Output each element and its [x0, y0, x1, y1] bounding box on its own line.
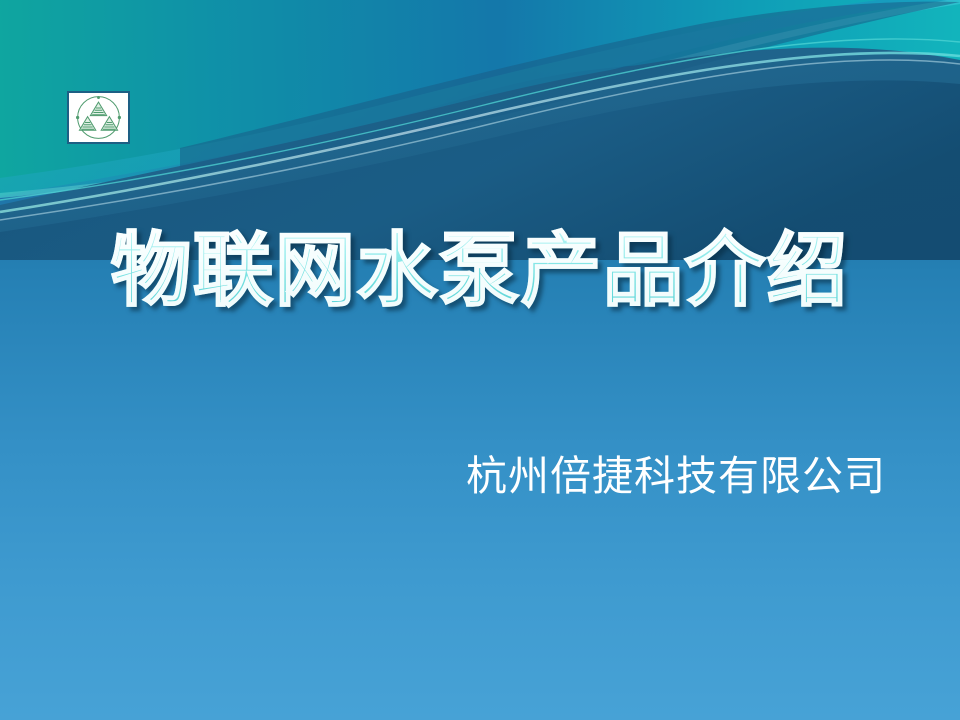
three-pyramids-in-circle-icon: [78, 97, 120, 139]
slide-subtitle-text: 杭州倍捷科技有限公司: [466, 452, 886, 500]
slide-title: 物联网水泵产品介绍 物联网水泵产品介绍: [0, 226, 960, 316]
slide-subtitle: 杭州倍捷科技有限公司: [96, 452, 886, 501]
flow-wave-decoration: [0, 0, 960, 260]
slide-title-text: 物联网水泵产品介绍: [111, 226, 849, 316]
company-logo: [67, 91, 130, 144]
presentation-slide: 物联网水泵产品介绍 物联网水泵产品介绍 杭州倍捷科技有限公司: [0, 0, 960, 720]
